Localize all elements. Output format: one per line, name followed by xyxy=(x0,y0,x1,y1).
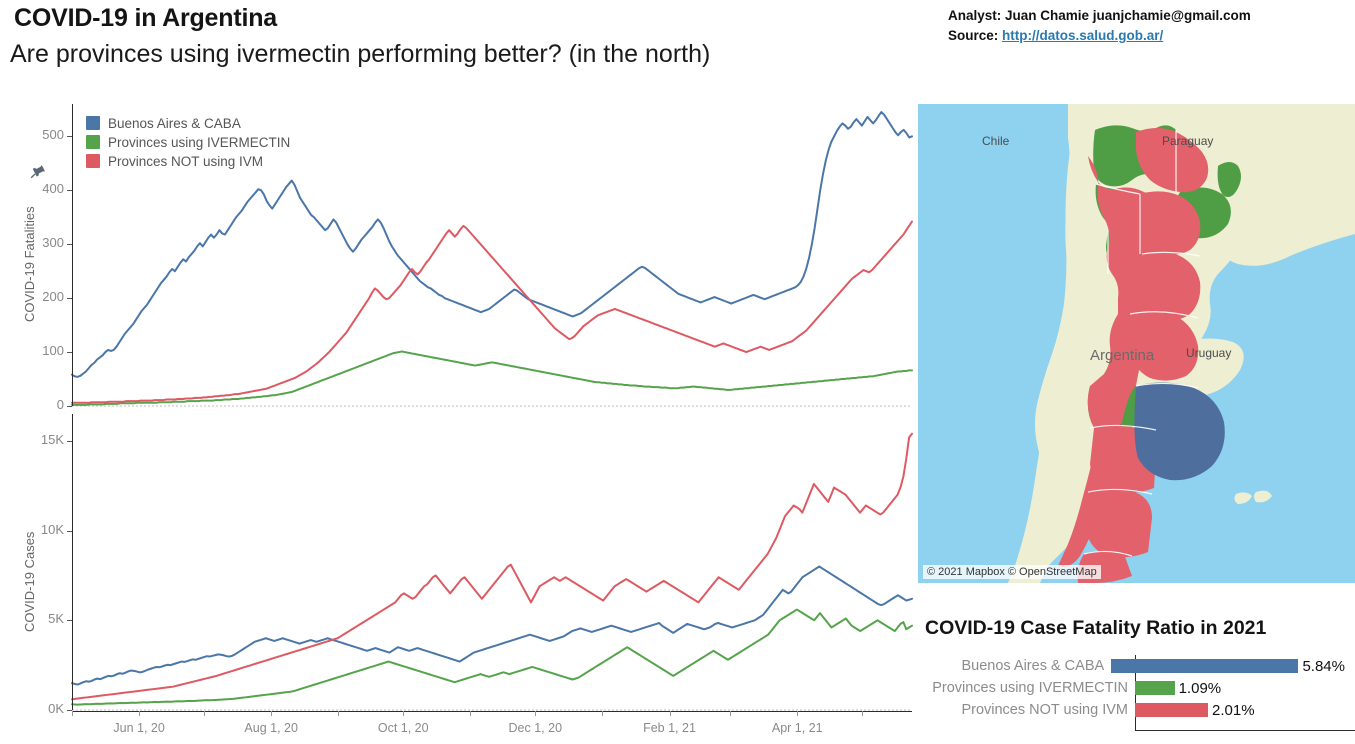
x-tick-label: Oct 1, 20 xyxy=(358,721,448,735)
y-tick-label: 0K xyxy=(10,701,64,716)
cfr-bar-value: 1.09% xyxy=(1179,680,1222,697)
cfr-bar-value: 2.01% xyxy=(1212,702,1255,719)
x-tick-label: Apr 1, 21 xyxy=(752,721,842,735)
source-link[interactable]: http://datos.salud.gob.ar/ xyxy=(1002,28,1163,43)
series-legend: Buenos Aires & CABA Provinces using IVER… xyxy=(86,114,290,171)
x-tick-mark xyxy=(338,711,339,716)
legend-swatch-red xyxy=(86,154,100,168)
cases-y-axis xyxy=(72,414,73,710)
y-tick-label: 300 xyxy=(10,235,64,250)
source-label: Source: xyxy=(948,28,998,43)
x-tick-label: Feb 1, 21 xyxy=(625,721,715,735)
y-tick-label: 10K xyxy=(10,522,64,537)
cfr-bar[interactable] xyxy=(1135,703,1208,717)
cases-chart xyxy=(72,414,912,710)
x-tick-mark xyxy=(730,711,731,716)
y-tick-label: 400 xyxy=(10,181,64,196)
legend-label: Buenos Aires & CABA xyxy=(108,116,241,131)
y-tick-mark xyxy=(67,136,72,137)
map-label-argentina: Argentina xyxy=(1090,347,1154,364)
y-tick-label: 100 xyxy=(10,343,64,358)
legend-swatch-green xyxy=(86,135,100,149)
x-tick-label: Dec 1, 20 xyxy=(490,721,580,735)
x-tick-mark xyxy=(204,711,205,716)
y-tick-label: 5K xyxy=(10,611,64,626)
map-svg xyxy=(918,104,1355,583)
page-title: COVID-19 in Argentina xyxy=(14,4,277,33)
x-tick-mark xyxy=(797,711,798,716)
y-tick-mark xyxy=(67,441,72,442)
x-tick-mark xyxy=(470,711,471,716)
y-tick-mark xyxy=(67,190,72,191)
y-tick-mark xyxy=(67,531,72,532)
dashboard-root: COVID-19 in Argentina Are provinces usin… xyxy=(0,0,1355,744)
y-tick-mark xyxy=(67,406,72,407)
legend-item-buenos-aires[interactable]: Buenos Aires & CABA xyxy=(86,114,290,132)
x-tick-mark xyxy=(535,711,536,716)
x-tick-mark xyxy=(670,711,671,716)
page-subtitle: Are provinces using ivermectin performin… xyxy=(10,40,710,69)
cfr-bar-label: Provinces NOT using IVM xyxy=(925,702,1135,718)
cases-axis-title: COVID-19 Cases xyxy=(22,532,37,632)
cfr-bar-label: Provinces using IVERMECTIN xyxy=(925,680,1135,696)
y-tick-mark xyxy=(67,620,72,621)
x-tick-mark xyxy=(139,711,140,716)
legend-label: Provinces using IVERMECTIN xyxy=(108,135,290,150)
cfr-bar-row[interactable]: Provinces NOT using IVM2.01% xyxy=(925,699,1345,721)
x-tick-mark xyxy=(271,711,272,716)
map-attribution: © 2021 Mapbox © OpenStreetMap xyxy=(923,565,1101,579)
map-label-paraguay: Paraguay xyxy=(1162,134,1213,148)
series-line xyxy=(72,610,912,705)
series-line xyxy=(72,222,912,403)
map-label-uruguay: Uruguay xyxy=(1186,346,1231,360)
y-tick-mark xyxy=(67,352,72,353)
series-line xyxy=(72,566,912,684)
x-tick-mark xyxy=(403,711,404,716)
x-tick-mark xyxy=(72,711,73,716)
cases-series-svg xyxy=(72,414,912,710)
x-tick-mark xyxy=(862,711,863,716)
x-tick-label: Aug 1, 20 xyxy=(226,721,316,735)
fatalities-y-axis xyxy=(72,104,73,406)
y-tick-label: 500 xyxy=(10,127,64,142)
argentina-choropleth-map[interactable]: ChileParaguayArgentinaUruguay © 2021 Map… xyxy=(918,104,1355,583)
cfr-bar[interactable] xyxy=(1135,681,1175,695)
y-tick-mark xyxy=(67,298,72,299)
x-tick-label: Jun 1, 20 xyxy=(94,721,184,735)
cfr-x-axis xyxy=(1135,730,1355,731)
x-axis-line xyxy=(72,711,912,712)
cfr-bar-label: Buenos Aires & CABA xyxy=(925,658,1111,674)
x-tick-mark xyxy=(602,711,603,716)
cfr-bar-row[interactable]: Buenos Aires & CABA5.84% xyxy=(925,655,1345,677)
cfr-title: COVID-19 Case Fatality Ratio in 2021 xyxy=(925,617,1266,640)
cfr-bar[interactable] xyxy=(1111,659,1298,673)
cfr-bar-row[interactable]: Provinces using IVERMECTIN1.09% xyxy=(925,677,1345,699)
source-line: Source: http://datos.salud.gob.ar/ xyxy=(948,28,1163,43)
cfr-bar-value: 5.84% xyxy=(1302,658,1345,675)
y-tick-mark xyxy=(67,244,72,245)
legend-swatch-blue xyxy=(86,116,100,130)
cfr-bar-list: Buenos Aires & CABA5.84%Provinces using … xyxy=(925,655,1345,721)
y-tick-label: 200 xyxy=(10,289,64,304)
fatalities-axis-title: COVID-19 Fatalities xyxy=(22,206,37,322)
legend-label: Provinces NOT using IVM xyxy=(108,154,263,169)
y-tick-label: 15K xyxy=(10,432,64,447)
pin-icon xyxy=(30,163,46,183)
map-label-chile: Chile xyxy=(982,134,1009,148)
legend-item-not-ivm[interactable]: Provinces NOT using IVM xyxy=(86,152,290,170)
y-tick-label: 0 xyxy=(10,397,64,412)
analyst-credit: Analyst: Juan Chamie juanjchamie@gmail.c… xyxy=(948,8,1251,23)
legend-item-ivermectin[interactable]: Provinces using IVERMECTIN xyxy=(86,133,290,151)
